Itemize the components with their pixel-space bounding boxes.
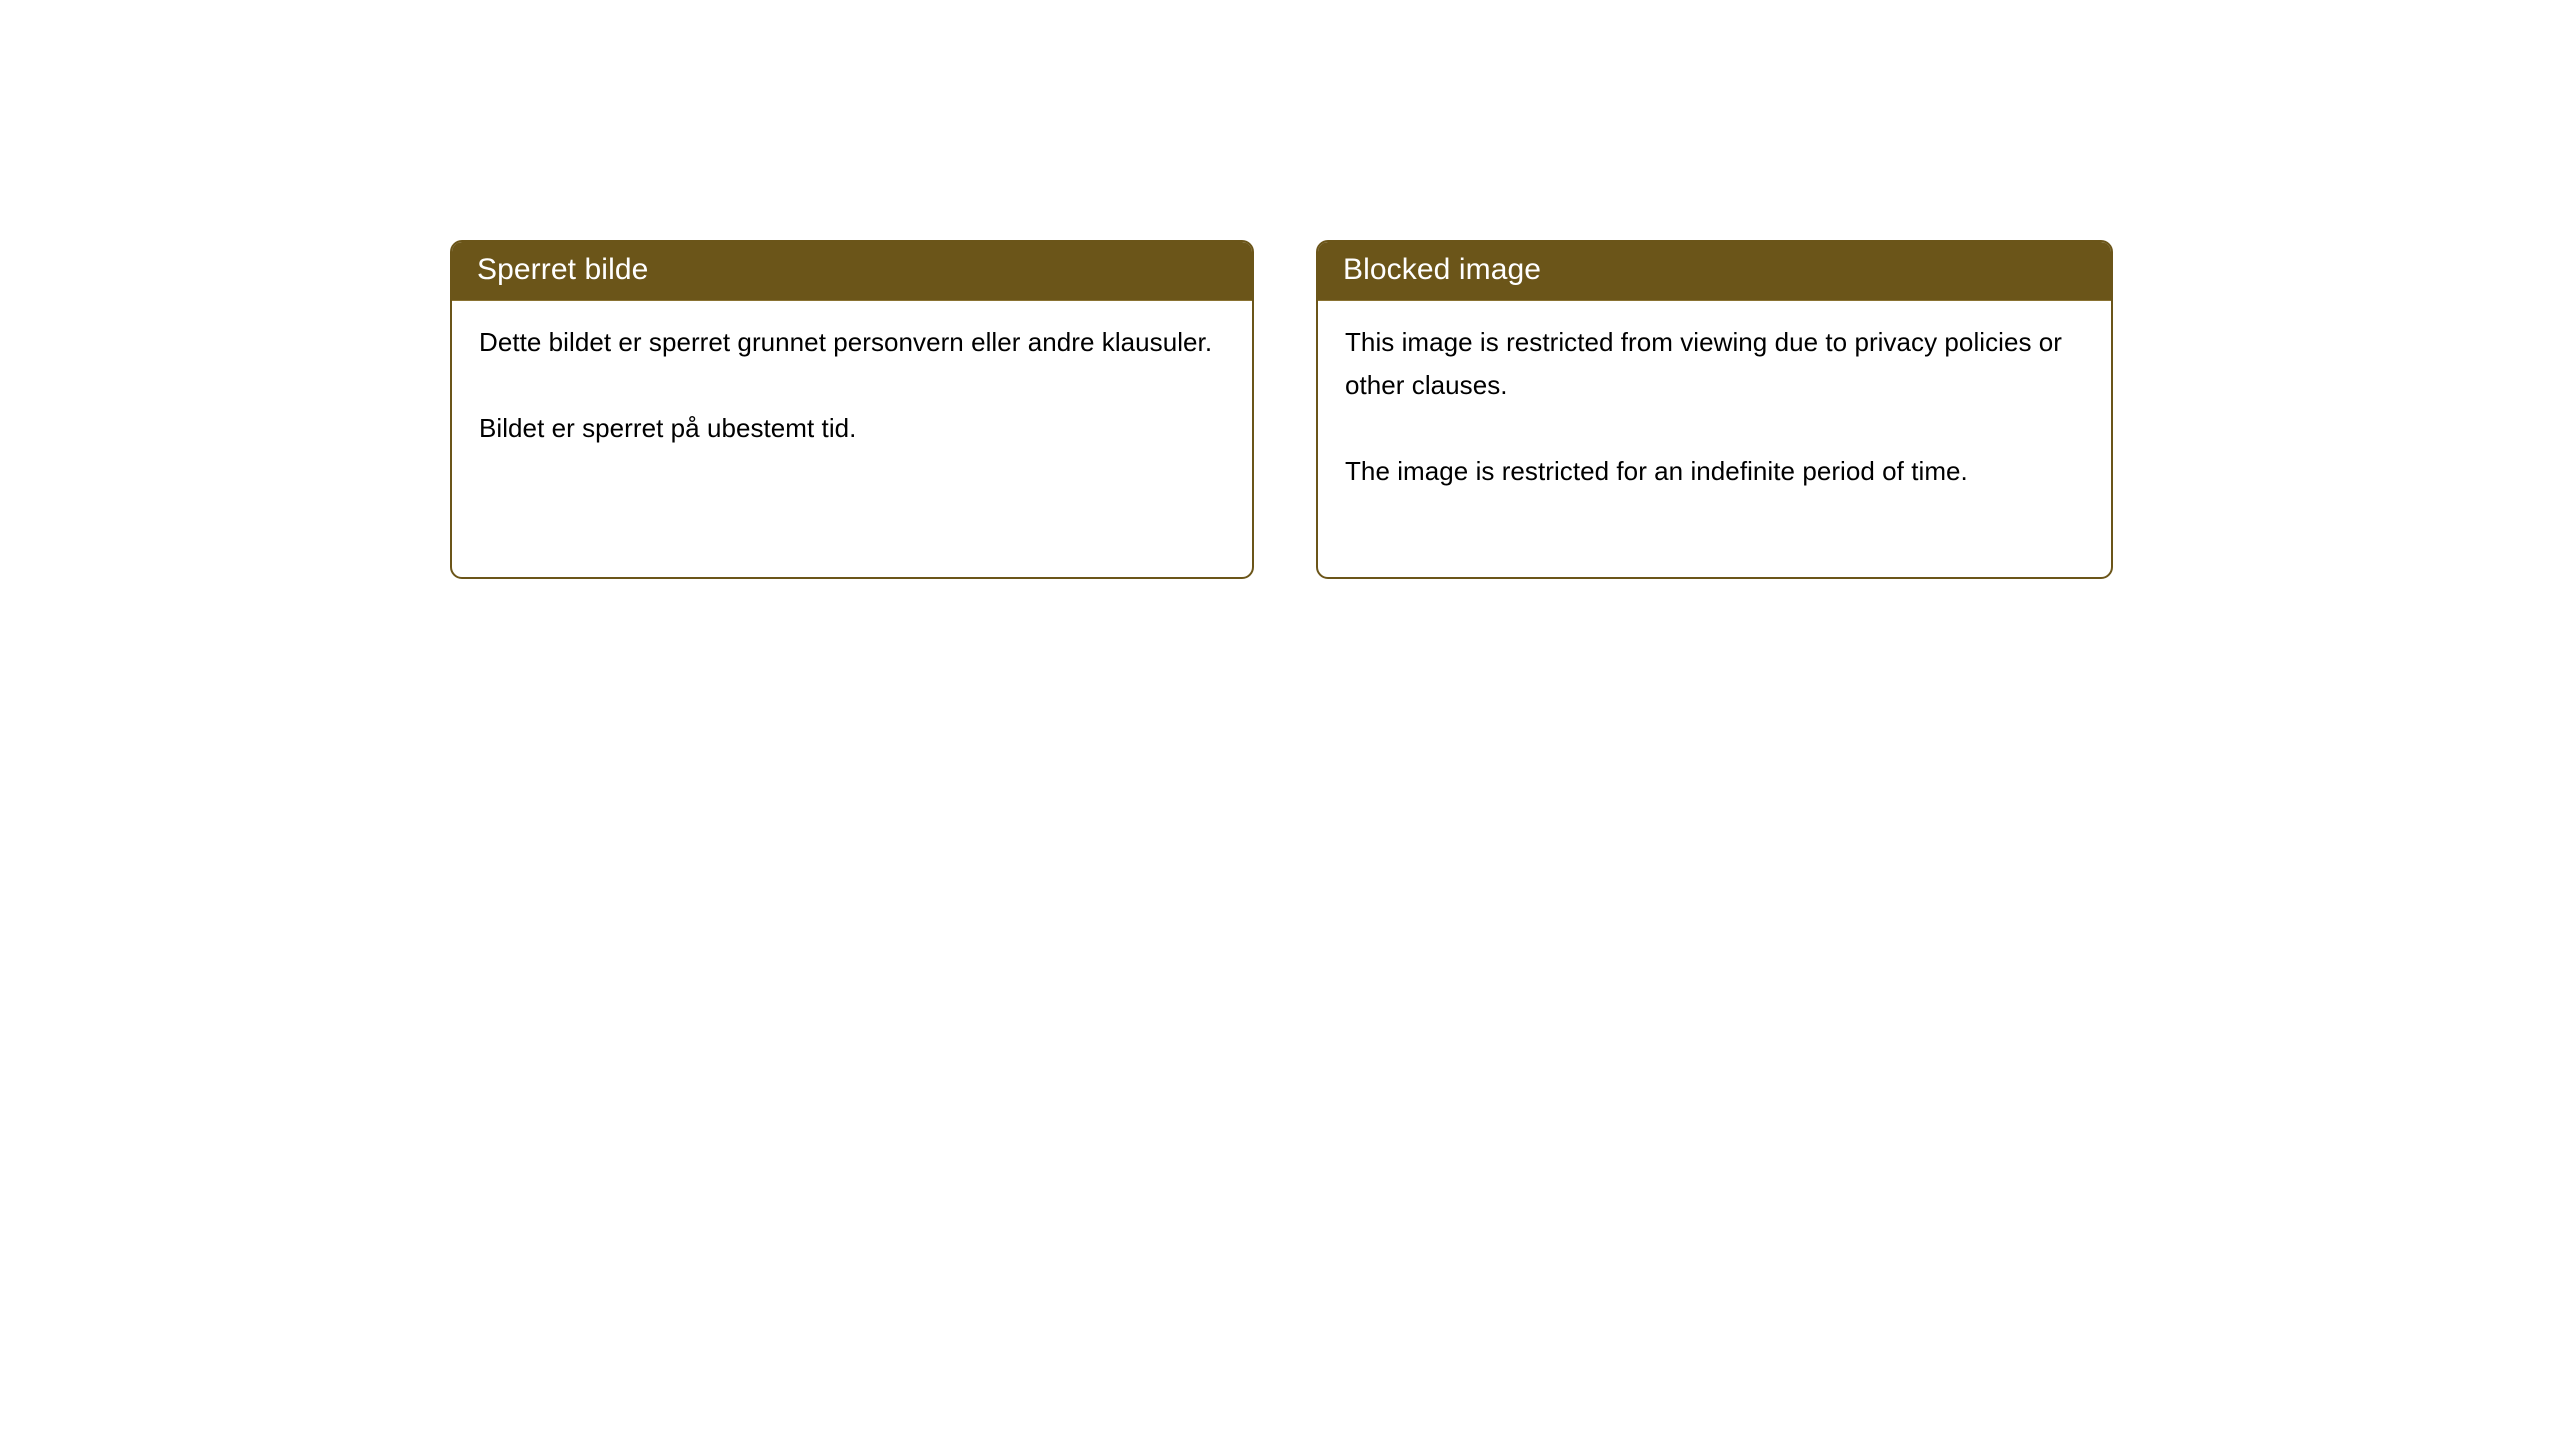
card-header-english: Blocked image: [1316, 240, 2113, 301]
card-body-norwegian: Dette bildet er sperret grunnet personve…: [452, 301, 1252, 450]
card-title-english: Blocked image: [1343, 253, 1541, 287]
card-title-norwegian: Sperret bilde: [477, 253, 648, 287]
card-header-norwegian: Sperret bilde: [450, 240, 1254, 301]
card-paragraph-primary-english: This image is restricted from viewing du…: [1345, 321, 2085, 407]
card-paragraph-secondary-norwegian: Bildet er sperret på ubestemt tid.: [479, 407, 1226, 450]
card-paragraph-primary-norwegian: Dette bildet er sperret grunnet personve…: [479, 321, 1226, 364]
card-paragraph-secondary-english: The image is restricted for an indefinit…: [1345, 450, 2085, 493]
blocked-image-card-english: Blocked image This image is restricted f…: [1316, 240, 2113, 579]
card-body-english: This image is restricted from viewing du…: [1318, 301, 2111, 493]
paragraph-spacer-english: [1345, 407, 2085, 450]
page-canvas: Sperret bilde Dette bildet er sperret gr…: [0, 0, 2560, 1440]
paragraph-spacer-norwegian: [479, 364, 1226, 407]
blocked-image-card-norwegian: Sperret bilde Dette bildet er sperret gr…: [450, 240, 1254, 579]
